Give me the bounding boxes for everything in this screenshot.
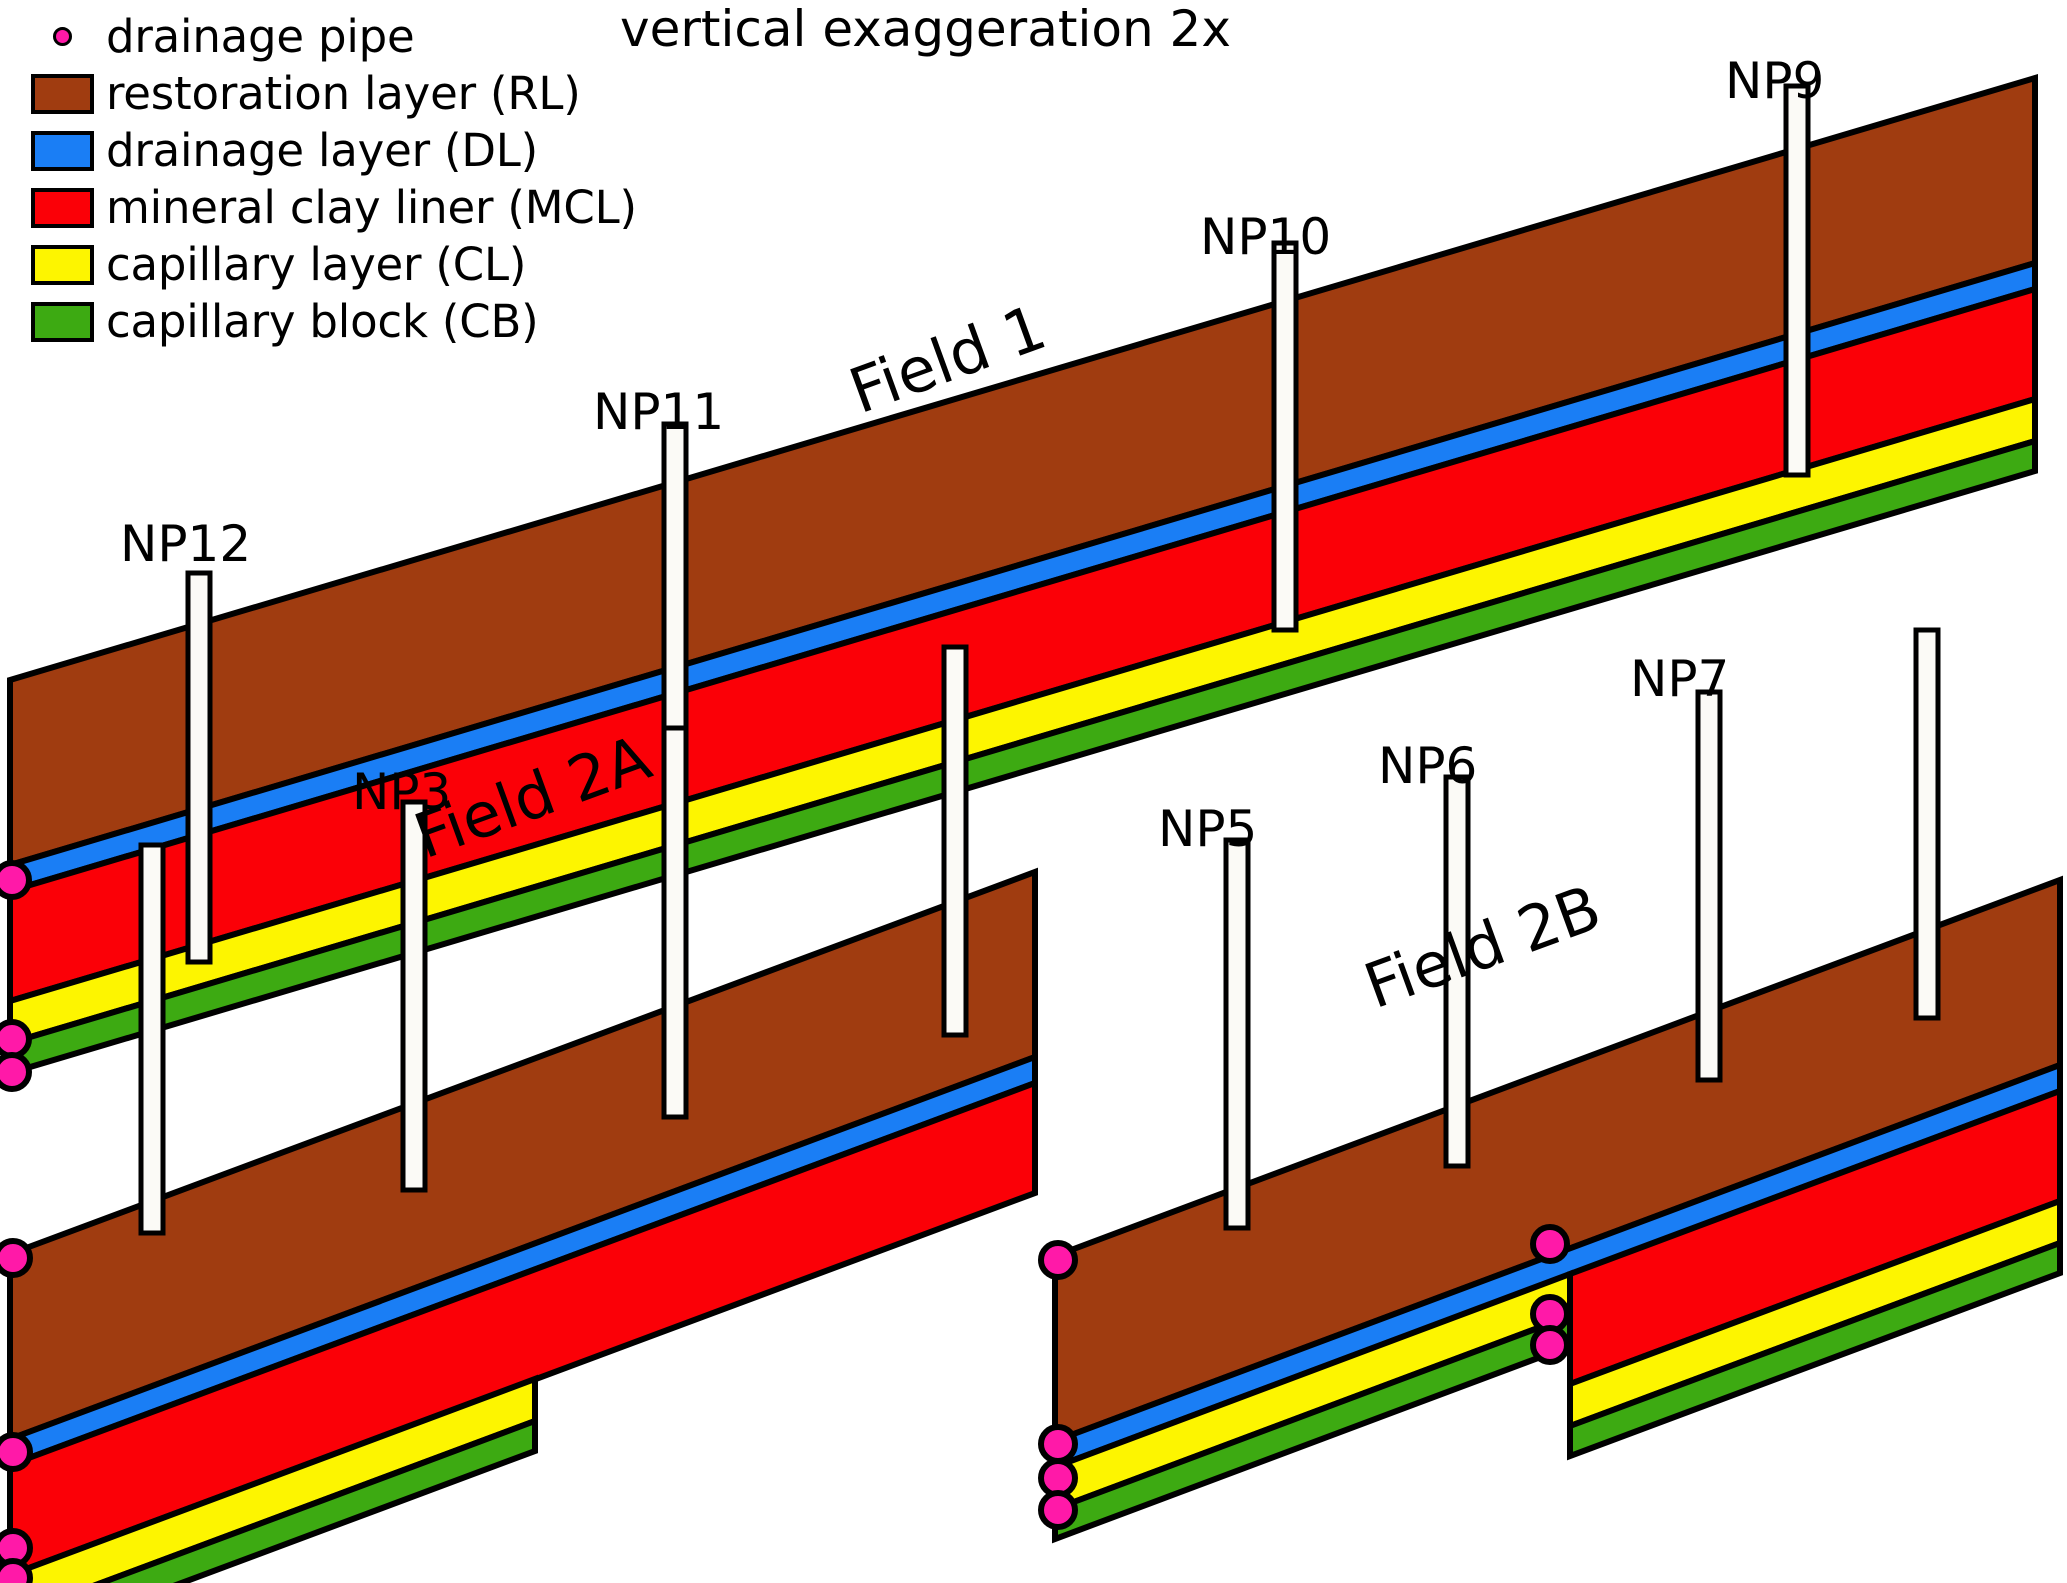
borehole-NP12[interactable] <box>188 573 210 962</box>
diagram-canvas: .sl { stroke:#000; stroke-width:6; strok… <box>0 0 2067 1583</box>
drainage-pipe-icon <box>0 1561 30 1583</box>
capillary-block-swatch-icon <box>31 302 94 342</box>
borehole-NP5[interactable] <box>1226 840 1248 1228</box>
borehole-label-NP5: NP5 <box>1158 800 1257 858</box>
borehole-right-2b[interactable] <box>1916 630 1938 1018</box>
legend-item-capillary-layer: capillary layer (CL) <box>18 236 898 293</box>
borehole-label-NP10: NP10 <box>1200 208 1331 266</box>
legend-swatch-cell <box>18 302 106 342</box>
drainage-pipe-icon <box>53 27 72 46</box>
borehole-left-2a[interactable] <box>141 845 163 1233</box>
drainage-pipe-icon <box>0 863 29 897</box>
legend-item-capillary-block: capillary block (CB) <box>18 293 898 350</box>
legend-label: restoration layer (RL) <box>106 71 581 116</box>
mineral-clay-liner-swatch-icon <box>31 188 94 228</box>
drainage-pipe-icon <box>1533 1328 1567 1362</box>
legend-label: capillary block (CB) <box>106 299 539 344</box>
legend-label: mineral clay liner (MCL) <box>106 185 637 230</box>
borehole-NP10[interactable] <box>1274 243 1296 630</box>
restoration-layer-swatch-icon <box>31 74 94 114</box>
field-2b-slab <box>1055 880 2060 1539</box>
borehole-label-NP6: NP6 <box>1378 737 1477 795</box>
legend: drainage pipe restoration layer (RL) dra… <box>18 8 898 350</box>
drainage-pipe-icon <box>1041 1493 1075 1527</box>
drainage-layer-swatch-icon <box>31 131 94 171</box>
legend-swatch-cell <box>18 27 106 46</box>
borehole-label-NP9: NP9 <box>1725 52 1824 110</box>
borehole-label-NP7: NP7 <box>1630 650 1729 708</box>
capillary-layer-swatch-icon <box>31 245 94 285</box>
drainage-pipe-icon <box>1041 1427 1075 1461</box>
legend-swatch-cell <box>18 188 106 228</box>
drainage-pipe-icon <box>0 1022 29 1056</box>
borehole-right-2a[interactable] <box>944 647 966 1035</box>
legend-swatch-cell <box>18 131 106 171</box>
legend-swatch-cell <box>18 74 106 114</box>
borehole-mid-2a[interactable] <box>664 728 686 1117</box>
legend-label: drainage layer (DL) <box>106 128 538 173</box>
drainage-pipe-icon <box>1533 1227 1567 1261</box>
borehole-NP7[interactable] <box>1698 692 1720 1080</box>
borehole-label-NP3: NP3 <box>352 763 451 821</box>
legend-label: capillary layer (CL) <box>106 242 526 287</box>
drainage-pipe-icon <box>1041 1243 1075 1277</box>
borehole-NP3[interactable] <box>403 802 425 1190</box>
borehole-NP9[interactable] <box>1786 86 1808 475</box>
borehole-label-NP12: NP12 <box>120 515 251 573</box>
legend-item-drainage-layer: drainage layer (DL) <box>18 122 898 179</box>
legend-item-mineral-clay-liner: mineral clay liner (MCL) <box>18 179 898 236</box>
drainage-pipe-icon <box>0 1055 29 1089</box>
legend-swatch-cell <box>18 245 106 285</box>
legend-item-restoration-layer: restoration layer (RL) <box>18 65 898 122</box>
drainage-pipe-icon <box>0 1241 30 1275</box>
legend-item-drainage-pipe: drainage pipe <box>18 8 898 65</box>
borehole-label-NP11: NP11 <box>593 383 724 441</box>
drainage-pipe-icon <box>1041 1461 1075 1495</box>
drainage-pipe-icon <box>0 1435 30 1469</box>
legend-label: drainage pipe <box>106 14 415 59</box>
